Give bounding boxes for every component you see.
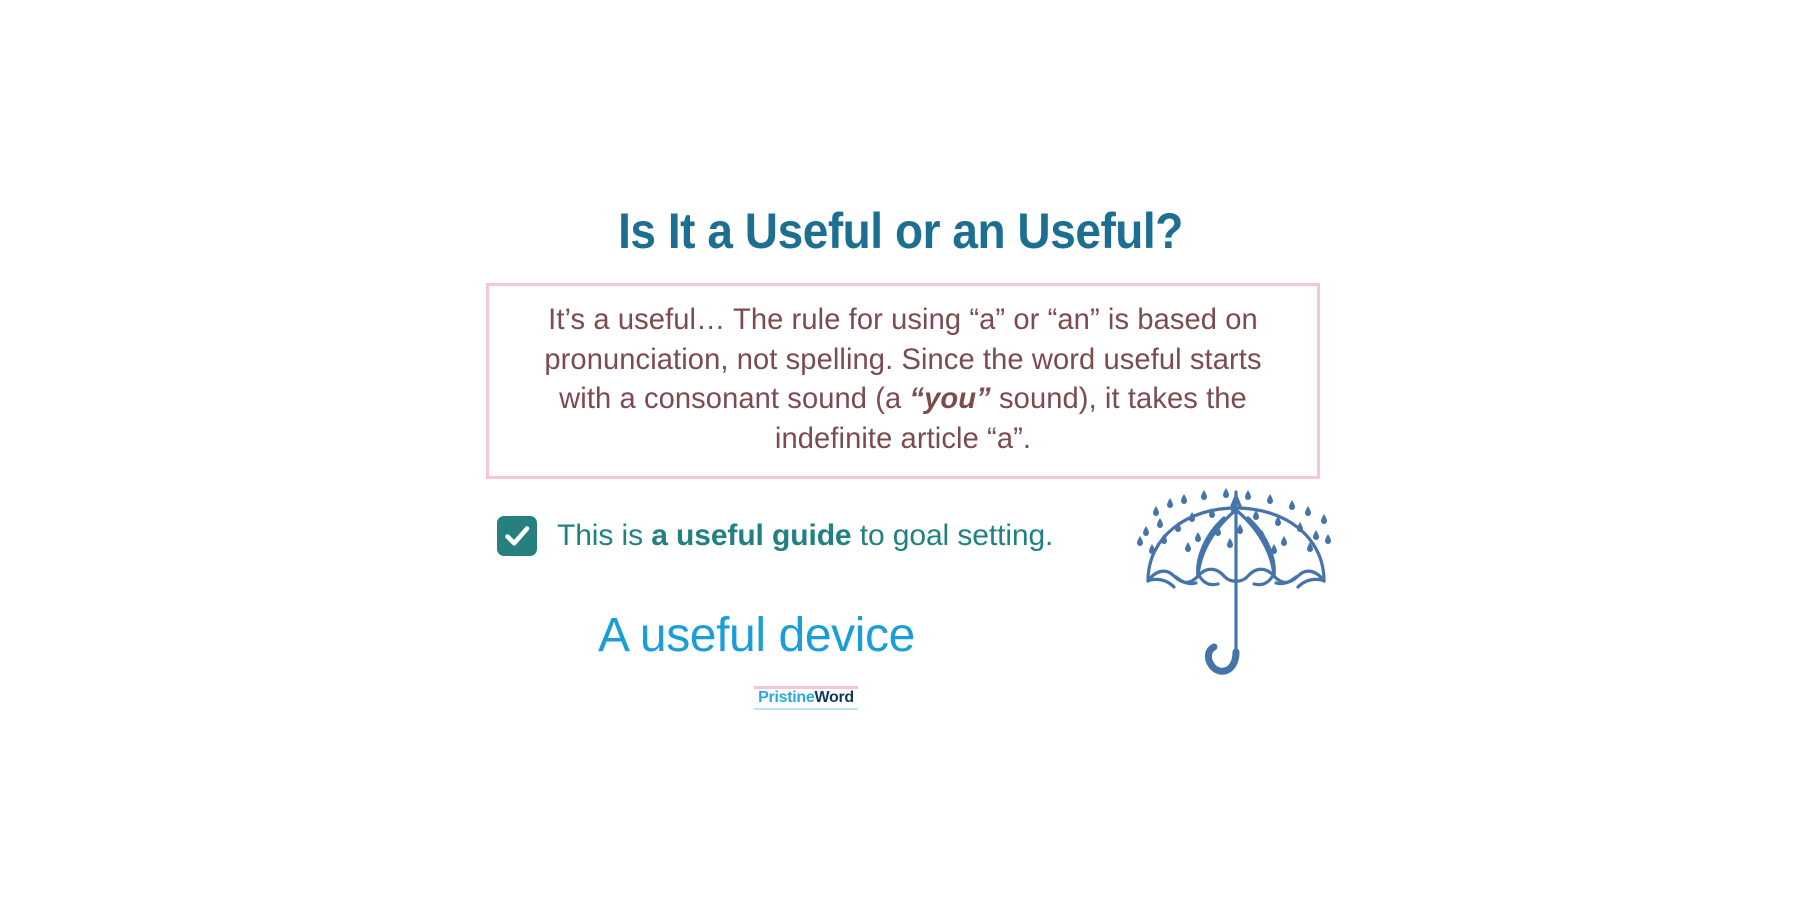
- explanation-box: It’s a useful… The rule for using “a” or…: [486, 283, 1320, 479]
- page-title: Is It a Useful or an Useful?: [72, 204, 1729, 259]
- brand-name-part-2: Word: [814, 689, 853, 706]
- example-prefix: This is: [557, 519, 651, 552]
- checkmark-icon: [497, 516, 537, 556]
- brand-name: PristineWord: [754, 690, 858, 706]
- example-suffix: to goal setting.: [852, 519, 1054, 552]
- umbrella-icon: [1136, 484, 1336, 689]
- slide-canvas: Is It a Useful or an Useful? It’s a usef…: [0, 0, 1801, 901]
- example-sentence-row: This is a useful guide to goal setting.: [497, 516, 1053, 556]
- example-sentence: This is a useful guide to goal setting.: [557, 519, 1053, 553]
- explanation-emphasis: “you”: [910, 382, 991, 415]
- device-heading: A useful device: [598, 608, 915, 663]
- brand-logo: PristineWord: [754, 686, 858, 710]
- example-highlight: a useful guide: [651, 519, 851, 552]
- brand-bottom-rule: [754, 708, 858, 710]
- explanation-text: It’s a useful… The rule for using “a” or…: [527, 300, 1280, 458]
- brand-name-part-1: Pristine: [758, 689, 814, 706]
